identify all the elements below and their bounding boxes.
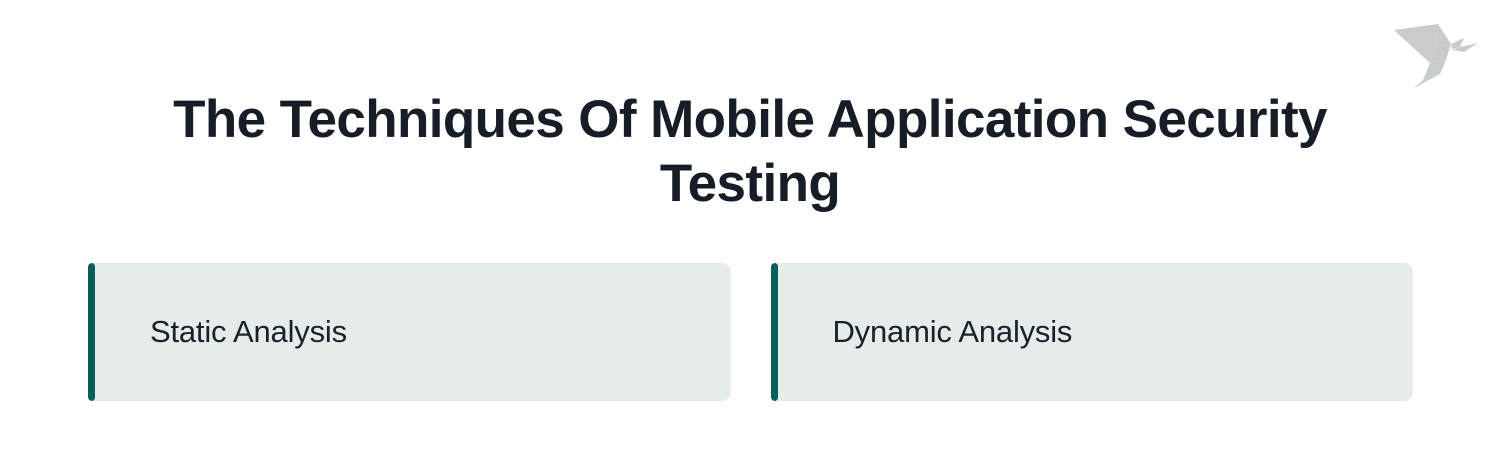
techniques-card-row: Static Analysis Dynamic Analysis <box>88 263 1413 401</box>
technique-card-label: Static Analysis <box>88 313 371 350</box>
card-accent-bar <box>88 263 95 401</box>
origami-bird-logo-icon <box>1390 16 1482 90</box>
technique-card-label: Dynamic Analysis <box>771 313 1097 350</box>
technique-card-dynamic-analysis[interactable]: Dynamic Analysis <box>771 263 1414 401</box>
page-title: The Techniques Of Mobile Application Sec… <box>0 88 1500 217</box>
slide-canvas: The Techniques Of Mobile Application Sec… <box>0 0 1500 460</box>
card-accent-bar <box>771 263 778 401</box>
technique-card-static-analysis[interactable]: Static Analysis <box>88 263 731 401</box>
